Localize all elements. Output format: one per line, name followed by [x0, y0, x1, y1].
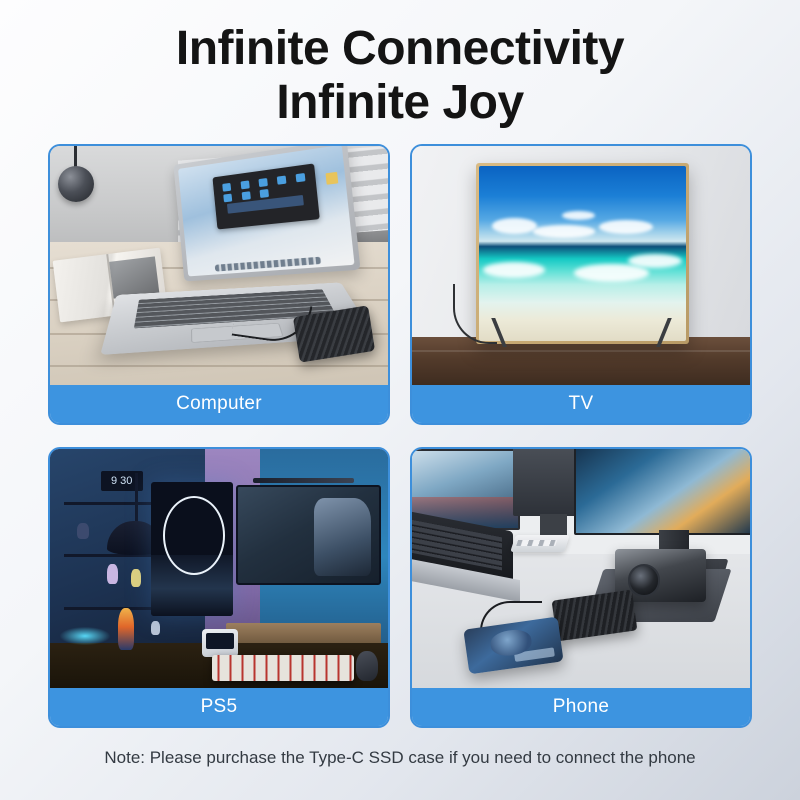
tv-screen [479, 166, 686, 342]
tv-scene [412, 146, 750, 385]
desktop-icon [326, 172, 339, 185]
ps5-photo: 9 30 [50, 449, 388, 688]
device-card-computer[interactable]: Computer [48, 144, 390, 425]
right-monitor [574, 449, 750, 535]
phone-photo [412, 449, 750, 688]
phone-scene [412, 449, 750, 688]
device-card-ps5[interactable]: 9 30 [48, 447, 390, 728]
anime-figurine [118, 608, 134, 650]
laptop-screen [178, 146, 355, 276]
page-title: Infinite Connectivity Infinite Joy [0, 0, 800, 130]
headline-line-2: Infinite Joy [0, 76, 800, 130]
footer-note: Note: Please purchase the Type-C SSD cas… [0, 748, 800, 768]
phone-screen-content [514, 648, 555, 663]
headline-line-1: Infinite Connectivity [0, 22, 800, 76]
mouse [356, 651, 378, 681]
monitor-wallpaper [151, 555, 232, 617]
dock [215, 257, 322, 272]
device-card-tv[interactable]: TV [410, 144, 752, 425]
tv-photo [412, 146, 750, 385]
clock-minutes: 30 [120, 475, 132, 487]
computer-scene [50, 146, 388, 385]
ps5-scene: 9 30 [50, 449, 388, 688]
device-card-grid: Computer [48, 144, 752, 728]
monitor-light-bar [253, 478, 354, 483]
tv-console [412, 337, 750, 385]
desk-lamp-icon [58, 166, 94, 202]
computer-photo [50, 146, 388, 385]
shelf-figurine [131, 569, 141, 587]
camera-lens [628, 564, 661, 597]
card-label-computer: Computer [50, 385, 388, 423]
card-label-ps5: PS5 [50, 688, 388, 726]
clock-hours: 9 [111, 475, 117, 487]
led-glow [60, 627, 110, 645]
card-label-tv: TV [412, 385, 750, 423]
shelf-figurine [77, 523, 89, 539]
file-manager-window [212, 163, 320, 230]
lamp-arm [135, 473, 138, 526]
vertical-monitor [151, 482, 232, 616]
selected-file-row [227, 195, 304, 214]
gaming-monitor [236, 485, 381, 585]
power-strip [511, 535, 571, 552]
mechanical-keyboard [212, 655, 354, 681]
television [476, 163, 689, 345]
card-label-phone: Phone [412, 688, 750, 726]
smart-display [202, 629, 238, 657]
shelf-figurine [151, 621, 160, 635]
laptop-lid [173, 146, 360, 281]
device-card-phone[interactable]: Phone [410, 447, 752, 728]
shelf-figurine [107, 564, 118, 584]
